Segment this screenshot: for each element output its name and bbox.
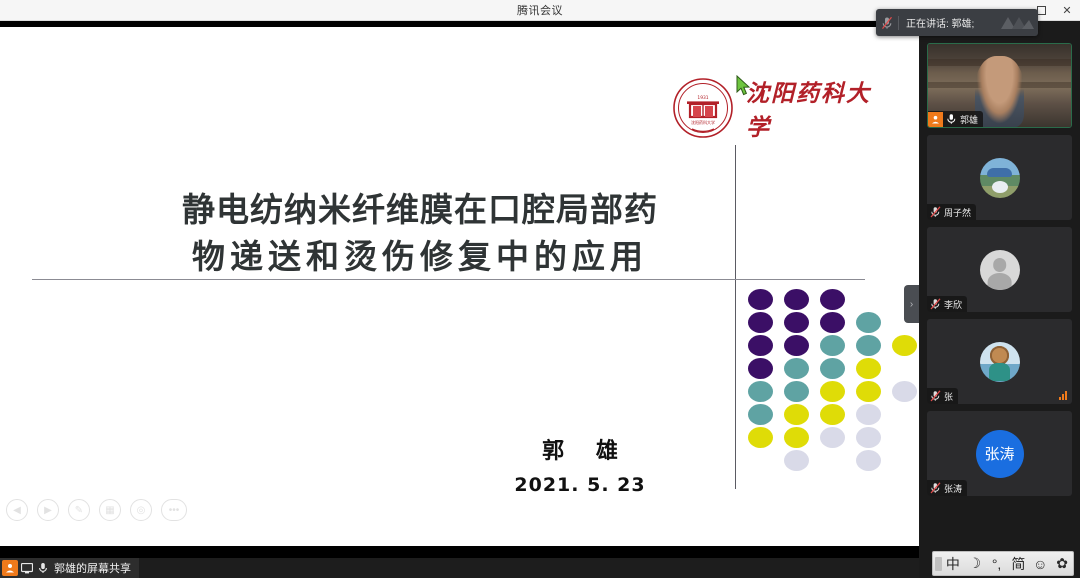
university-seal-icon: 1931 沈阳药科大学	[672, 77, 734, 139]
decorative-dot	[856, 381, 881, 402]
participant-label: 周子然	[927, 204, 976, 220]
avatar	[980, 158, 1020, 198]
decorative-dot	[784, 335, 809, 356]
network-signal-icon	[1059, 391, 1067, 400]
decorative-dot	[748, 381, 773, 402]
participant-tile[interactable]: 周子然	[927, 135, 1072, 220]
decorative-dot	[784, 381, 809, 402]
decorative-dot	[820, 289, 845, 310]
microphone-icon	[36, 561, 50, 575]
ime-drag-handle[interactable]	[935, 557, 942, 571]
video-background-shelf	[928, 82, 1071, 88]
decorative-dot	[820, 358, 845, 379]
decorative-dot	[856, 312, 881, 333]
ime-toolbar[interactable]: 中☽°,简☺✿	[932, 551, 1074, 576]
participant-name: 李欣	[943, 298, 962, 311]
decorative-dot	[856, 335, 881, 356]
participant-rail: ▲ 郭雄 周子然	[919, 21, 1080, 578]
decorative-dot	[748, 427, 773, 448]
decorative-dot	[748, 312, 773, 333]
svg-text:沈阳药科大学: 沈阳药科大学	[691, 119, 715, 125]
decorative-dot	[820, 427, 845, 448]
laser-pointer-cursor	[736, 75, 751, 96]
decorative-dot	[748, 404, 773, 425]
decorative-dot	[784, 358, 809, 379]
svg-text:1931: 1931	[697, 95, 708, 101]
slide-author: 郭 雄	[460, 433, 700, 465]
decorative-dot	[784, 450, 809, 471]
participant-label: 李欣	[927, 296, 967, 312]
video-background-shelf	[928, 59, 1071, 66]
decorative-dot	[748, 358, 773, 379]
decorative-dot	[820, 404, 845, 425]
slide-title: 静电纺纳米纤维膜在口腔局部药 物递送和烫伤修复中的应用	[150, 187, 690, 281]
decorative-dot	[748, 289, 773, 310]
close-window-button[interactable]: ✕	[1054, 0, 1080, 21]
decorative-dot	[892, 381, 917, 402]
participant-name: 郭雄	[959, 113, 978, 126]
speaking-indicator-toast: 正在讲话: 郭雄;	[876, 9, 1038, 36]
tencent-meeting-window: 腾讯会议 ✕ 正在讲话: 郭雄;	[0, 0, 1080, 578]
decorative-dot	[820, 335, 845, 356]
monitor-icon	[20, 561, 34, 575]
participant-tile[interactable]: 张	[927, 319, 1072, 404]
mic-muted-icon	[927, 298, 943, 310]
mic-muted-icon	[876, 16, 898, 30]
avatar	[980, 342, 1020, 382]
pen-tool-button[interactable]: ✎	[68, 499, 90, 521]
mic-muted-icon	[927, 390, 943, 402]
decorative-dot	[784, 404, 809, 425]
decorative-dot	[784, 312, 809, 333]
ime-mode-chinese[interactable]: 中	[942, 554, 964, 574]
participant-name: 张	[943, 390, 953, 403]
participant-name: 周子然	[943, 206, 971, 219]
decorative-dot	[784, 427, 809, 448]
taskbar-share-item[interactable]: 郭雄的屏幕共享	[0, 558, 139, 578]
participant-label: 张涛	[927, 480, 967, 496]
presentation-toolbar[interactable]: ◀▶✎▦◎•••	[6, 499, 187, 521]
decorative-dot	[856, 427, 881, 448]
participant-name: 张涛	[943, 482, 962, 495]
all-slides-button[interactable]: ▦	[99, 499, 121, 521]
decorative-dot	[748, 335, 773, 356]
university-name: 沈阳药科大学	[746, 74, 892, 142]
university-logo: 1931 沈阳药科大学 沈阳药科大学	[672, 77, 892, 139]
window-title: 腾讯会议	[517, 2, 563, 18]
decorative-dot	[892, 335, 917, 356]
slide-date: 2021. 5. 23	[460, 474, 700, 496]
ime-punctuation-icon[interactable]: °,	[986, 556, 1008, 572]
mic-on-icon	[943, 113, 959, 125]
speaking-label: 正在讲话: 郭雄;	[899, 15, 996, 30]
slide-title-line2: 物递送和烫伤修复中的应用	[150, 234, 690, 281]
ime-simplified-icon[interactable]: 简	[1007, 554, 1029, 574]
decorative-dot	[856, 404, 881, 425]
taskbar-share-label: 郭雄的屏幕共享	[52, 560, 131, 576]
next-slide-button[interactable]: ▶	[37, 499, 59, 521]
person-icon	[2, 560, 18, 576]
presentation-slide[interactable]: 1931 沈阳药科大学 沈阳药科大学 静电纺纳米纤维膜在口腔局部药 物递	[0, 27, 919, 546]
avatar: 张涛	[976, 430, 1024, 478]
ime-emoji-icon[interactable]: ☺	[1029, 556, 1051, 572]
decorative-dot	[856, 450, 881, 471]
decorative-dot	[784, 289, 809, 310]
ime-settings-icon[interactable]: ✿	[1051, 555, 1073, 572]
previous-slide-button[interactable]: ◀	[6, 499, 28, 521]
taskbar: 郭雄的屏幕共享	[0, 558, 919, 578]
participant-tile[interactable]: 张涛 张涛	[927, 411, 1072, 496]
participant-label: 郭雄	[928, 111, 983, 127]
shared-screen-area[interactable]: 1931 沈阳药科大学 沈阳药科大学 静电纺纳米纤维膜在口腔局部药 物递	[0, 21, 919, 558]
host-badge	[928, 112, 943, 127]
slide-vertical-rule	[735, 145, 736, 489]
participant-tile[interactable]: 郭雄	[927, 43, 1072, 128]
zoom-button[interactable]: ◎	[130, 499, 152, 521]
participant-label: 张	[927, 388, 958, 404]
decorative-dot	[856, 358, 881, 379]
avatar	[980, 250, 1020, 290]
more-options-button[interactable]: •••	[161, 499, 187, 521]
participant-tile[interactable]: 李欣	[927, 227, 1072, 312]
slide-title-line1: 静电纺纳米纤维膜在口腔局部药	[150, 187, 690, 234]
decorative-dot	[820, 381, 845, 402]
sound-wave-icon	[996, 9, 1038, 36]
collapse-panel-button[interactable]: ›	[904, 285, 919, 323]
mic-muted-icon	[927, 482, 943, 494]
mic-muted-icon	[927, 206, 943, 218]
decorative-dot	[820, 312, 845, 333]
participant-list: 郭雄 周子然 李欣 张 张涛	[919, 43, 1080, 554]
ime-moon-icon[interactable]: ☽	[964, 555, 986, 572]
